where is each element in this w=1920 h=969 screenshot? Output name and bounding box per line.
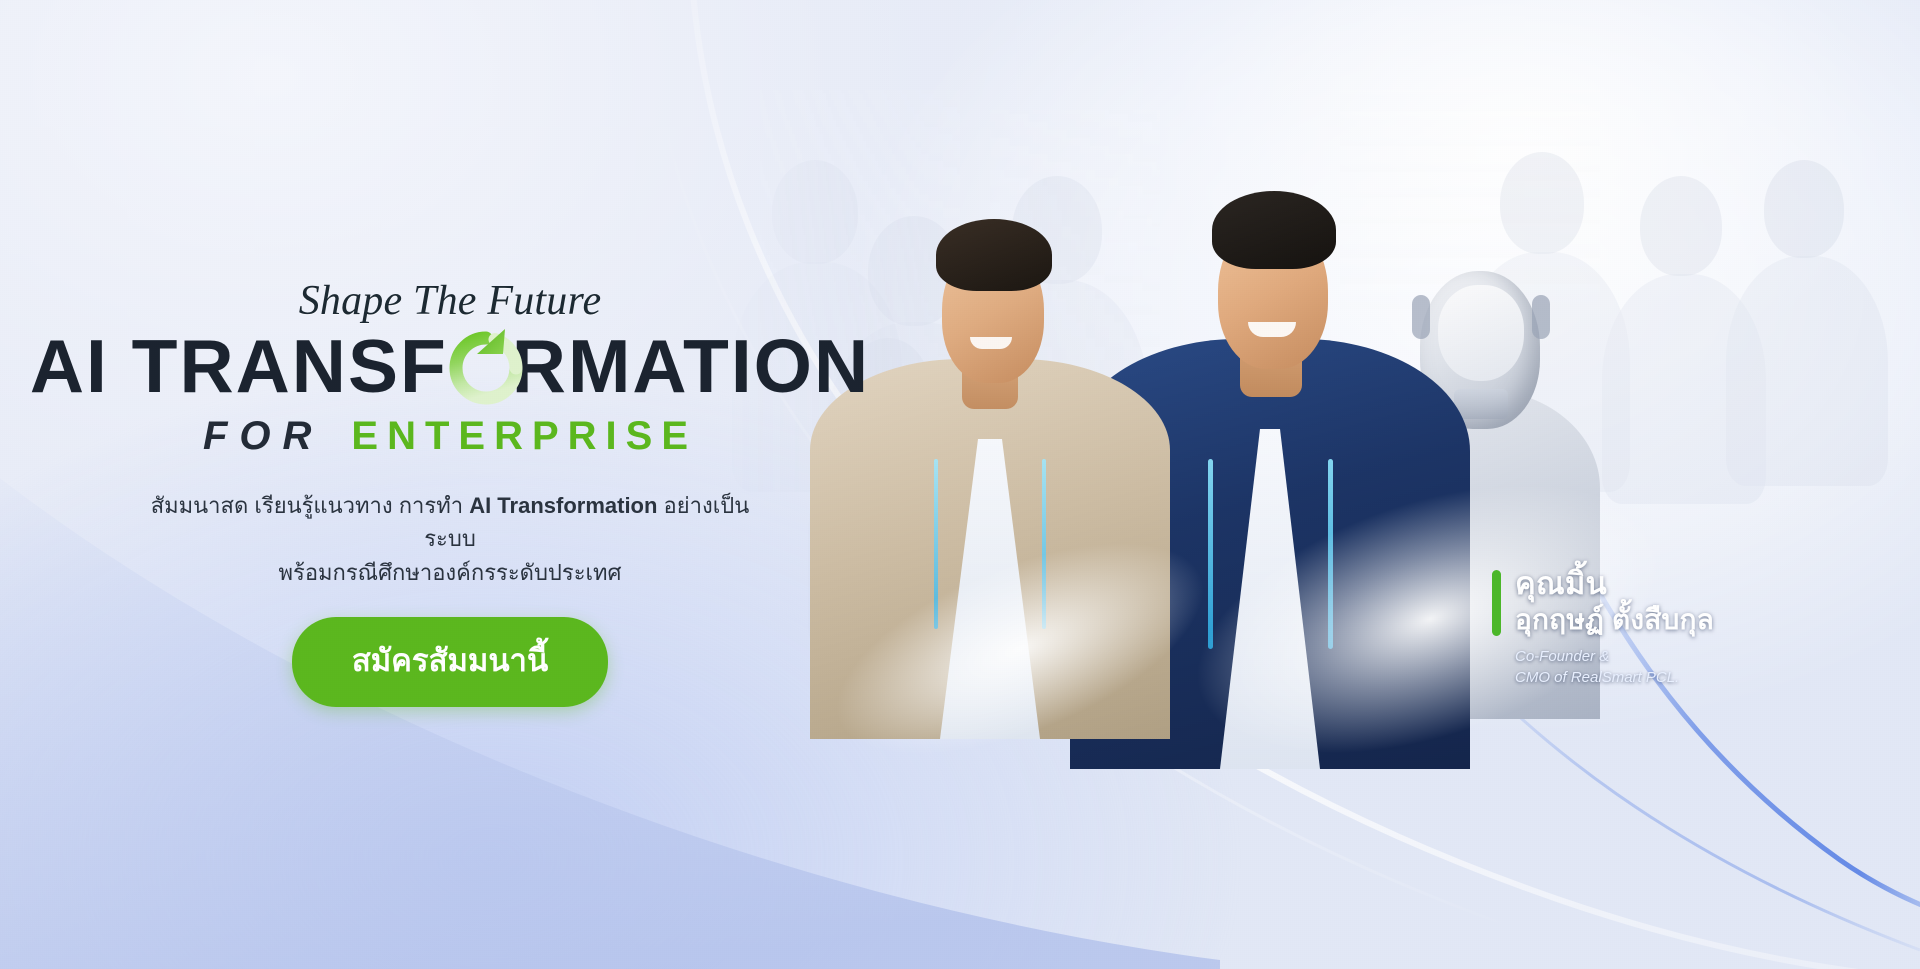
register-seminar-button[interactable]: สมัครสัมมนานี้ [292, 617, 608, 707]
subheadline: FOR ENTERPRISE [203, 414, 697, 459]
speaker-role: Co-Founder & CMO of RealSmart PCL. [1515, 646, 1714, 689]
page-title: AI TRANSF [30, 330, 870, 404]
eyebrow-text: Shape The Future [299, 278, 602, 324]
speaker-role-line1: Co-Founder & [1515, 648, 1609, 665]
speaker-nickname: คุณมิ้น [1515, 566, 1714, 603]
subheadline-for: FOR [203, 414, 323, 459]
description-line1-prefix: สัมมนาสด เรียนรู้แนวทาง การทำ [151, 493, 469, 518]
headline-part-one: AI TRANSF [30, 330, 448, 404]
headline-part-two: RMATION [512, 330, 870, 404]
speaker-role-line2: CMO of RealSmart PCL. [1515, 669, 1679, 686]
description-highlight: AI Transformation [469, 493, 657, 518]
circular-refresh-arrow-icon [449, 336, 511, 398]
banner-content: Shape The Future AI TRANSF [0, 0, 900, 969]
description-line2: พร้อมกรณีศึกษาองค์กรระดับประเทศ [130, 556, 770, 589]
accent-bar [1492, 570, 1501, 636]
subheadline-enterprise: ENTERPRISE [351, 414, 697, 459]
hero-speakers-image [770, 0, 1920, 969]
hero-banner: Shape The Future AI TRANSF [0, 0, 1920, 969]
speaker-fullname: อุกฤษฏ์ ตั้งสืบกุล [1515, 603, 1714, 637]
speaker-text-group: คุณมิ้น อุกฤษฏ์ ตั้งสืบกุล Co-Founder & … [1515, 566, 1714, 689]
description-text: สัมมนาสด เรียนรู้แนวทาง การทำ AI Transfo… [130, 489, 770, 589]
speaker-credit: คุณมิ้น อุกฤษฏ์ ตั้งสืบกุล Co-Founder & … [1492, 566, 1714, 689]
